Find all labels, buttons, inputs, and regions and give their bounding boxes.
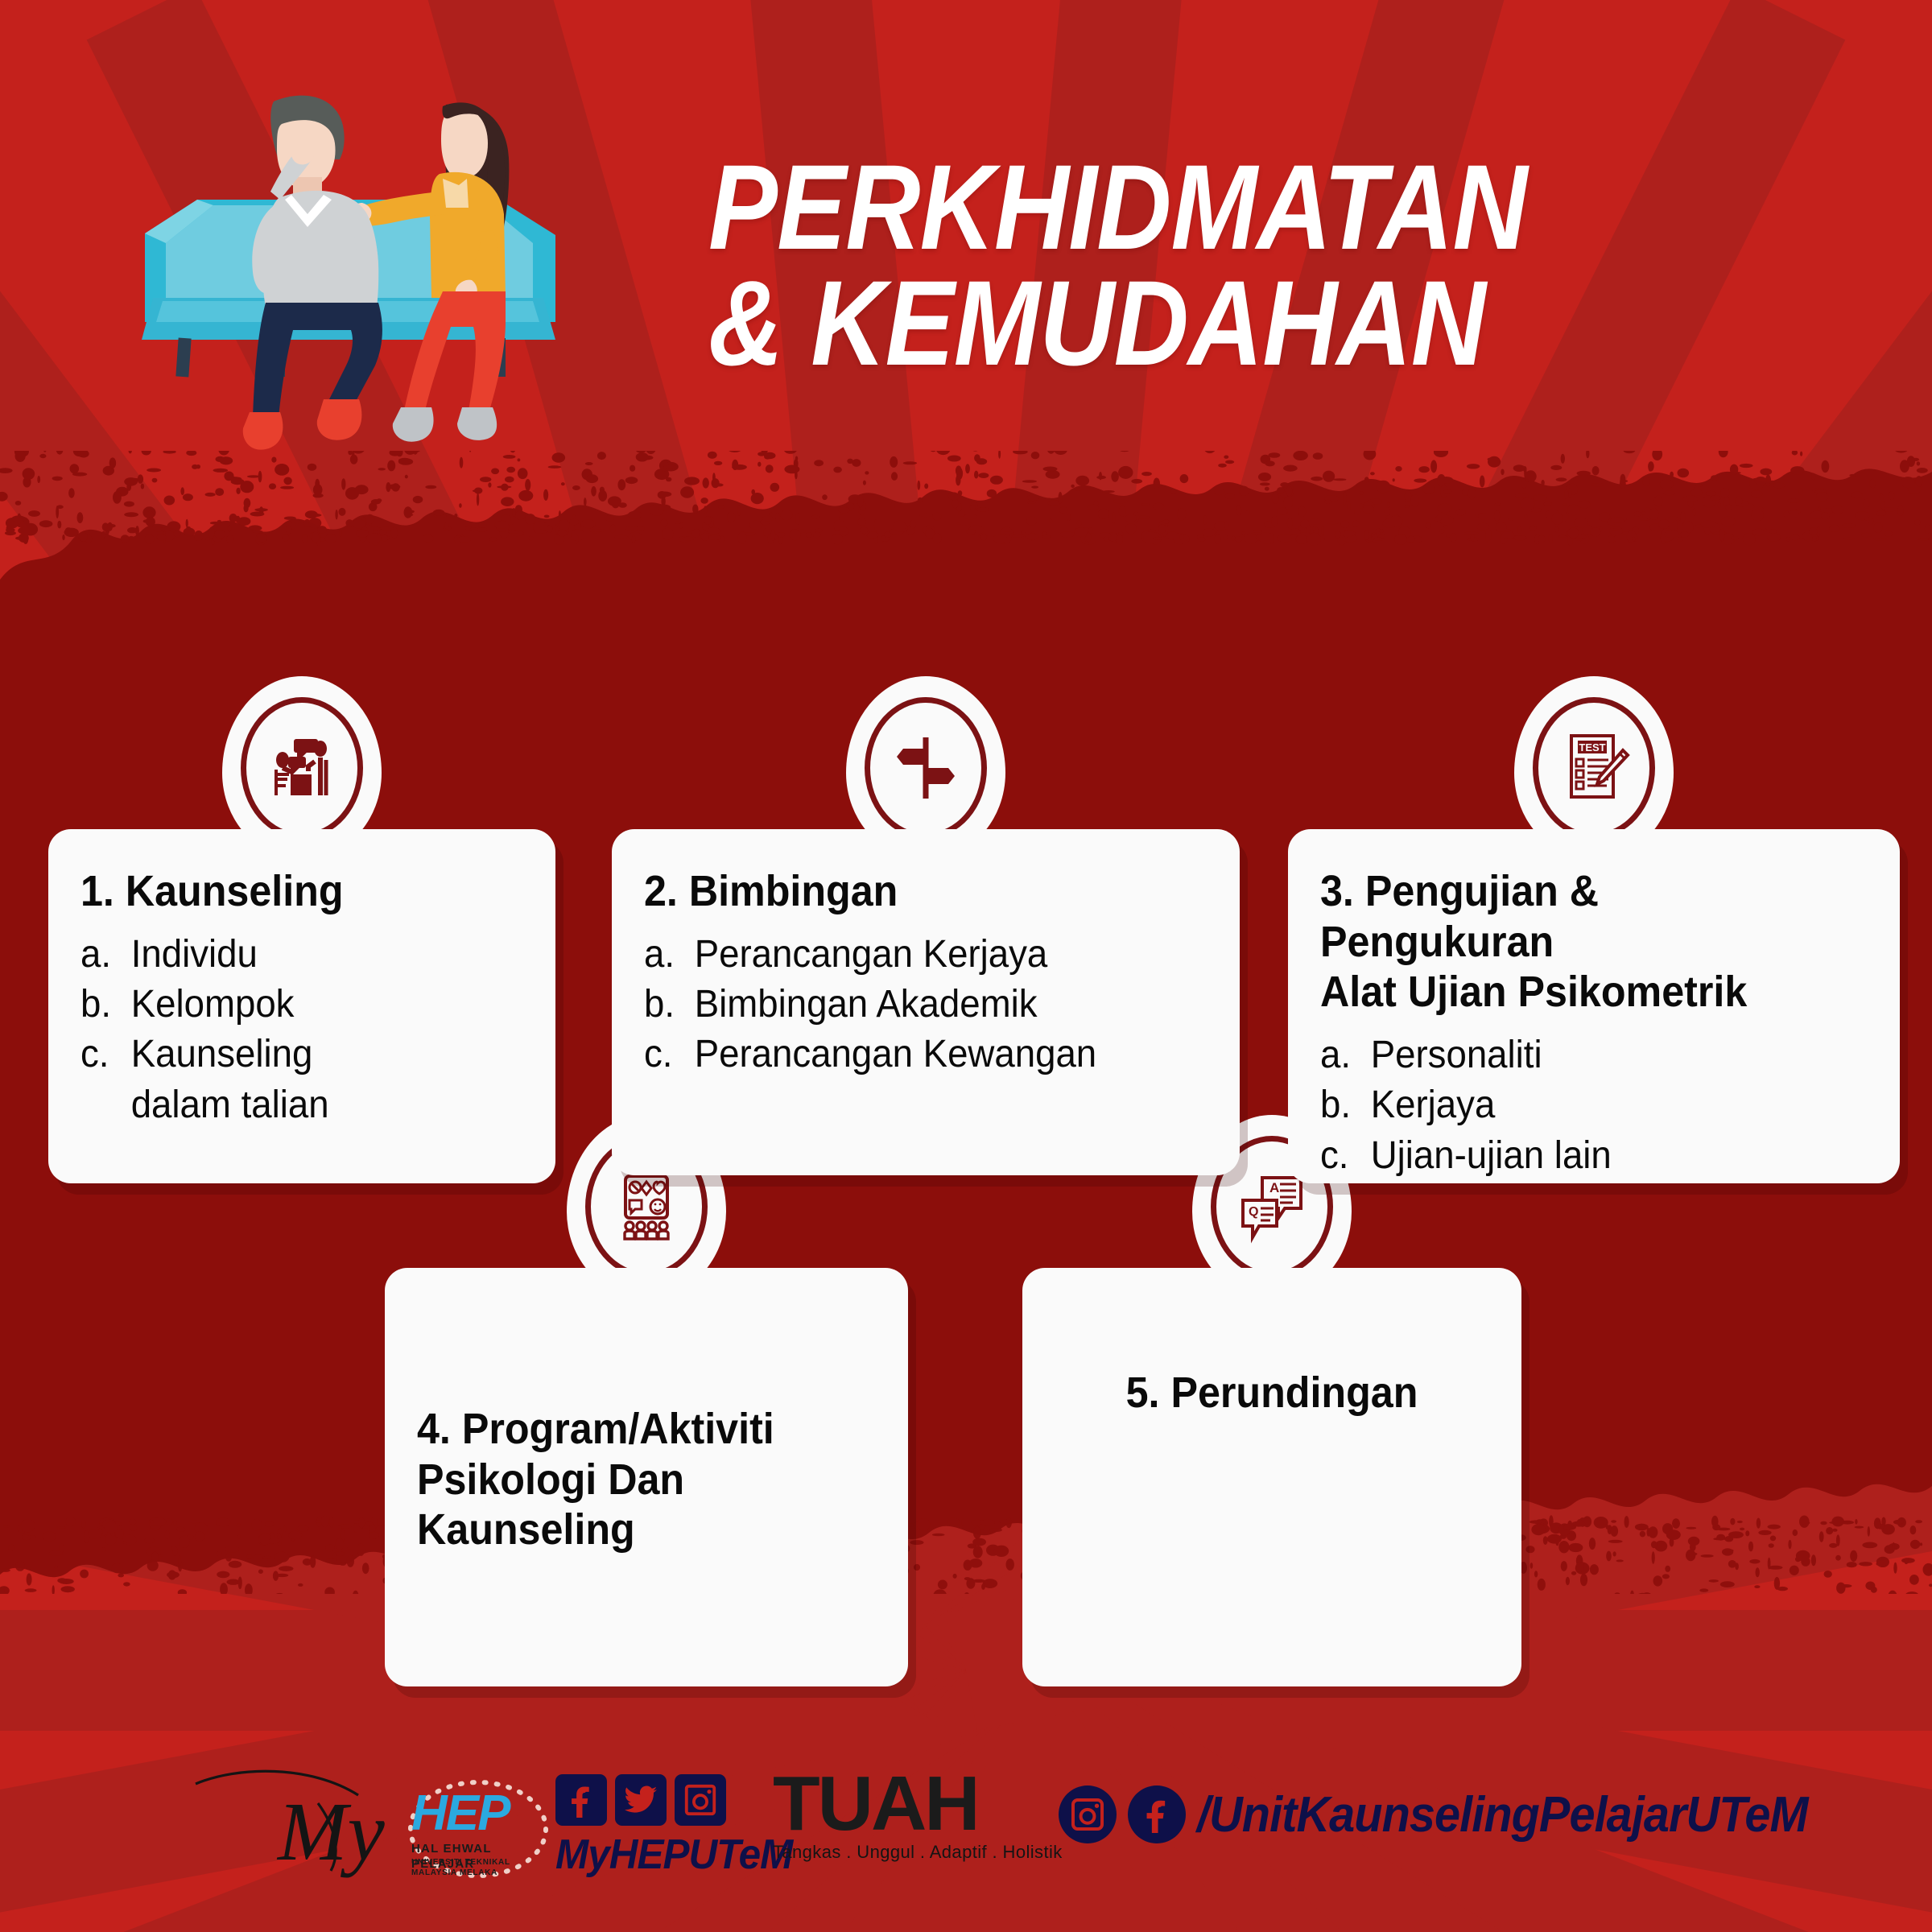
card-2-sublist: a.Perancangan Kerjaya b.Bimbingan Akadem…: [644, 930, 1207, 1080]
tuah-wordmark: TUAH: [773, 1769, 1063, 1839]
list-item: b.Kerjaya: [1320, 1080, 1840, 1130]
list-item: c.Perancangan Kewangan: [644, 1030, 1179, 1080]
list-item: c.Ujian-ujian lain: [1320, 1131, 1840, 1181]
list-item: a.Personaliti: [1320, 1030, 1840, 1080]
card-2-title: 2. Bimbingan: [644, 866, 1168, 917]
card-3-body: 3. Pengujian & Pengukuran Alat Ujian Psi…: [1288, 829, 1900, 1183]
test-clipboard-pencil-icon: TEST: [1533, 697, 1655, 839]
card-1-sublist: a.Individu b.Kelompok c.Kaunseling dalam…: [80, 930, 523, 1131]
counselling-session-icon: [241, 697, 363, 839]
card-4-body: 4. Program/Aktiviti Psikologi Dan Kaunse…: [385, 1268, 908, 1686]
twitter-icon[interactable]: [615, 1774, 667, 1826]
services-card-grid: 1. Kaunseling a.Individu b.Kelompok c.Ka…: [0, 0, 1932, 1932]
card-5-title: 5. Perundingan: [1070, 1368, 1474, 1418]
signpost-direction-icon: [865, 697, 987, 839]
hep-badge: HEP HAL EHWAL PELAJAR UNIVERSITI TEKNIKA…: [408, 1787, 553, 1882]
svg-text:Q: Q: [1249, 1205, 1258, 1219]
list-item: b.Bimbingan Akademik: [644, 980, 1179, 1030]
footer: My HEP HAL EHWAL PELAJAR UNIVERSITI TEKN…: [0, 1739, 1932, 1932]
hep-acronym: HEP: [411, 1789, 509, 1839]
myhep-logo[interactable]: My HEP HAL EHWAL PELAJAR UNIVERSITI TEKN…: [278, 1776, 551, 1897]
instagram-icon[interactable]: [1059, 1785, 1117, 1843]
list-item: a.Perancangan Kerjaya: [644, 930, 1179, 980]
card-3-sublist: a.Personaliti b.Kerjaya c.Ujian-ujian la…: [1320, 1030, 1868, 1181]
card-3-title: 3. Pengujian & Pengukuran Alat Ujian Psi…: [1320, 866, 1829, 1018]
card-4-title: 4. Program/Aktiviti Psikologi Dan Kaunse…: [417, 1404, 844, 1555]
card-1-body: 1. Kaunseling a.Individu b.Kelompok c.Ka…: [48, 829, 555, 1183]
card-2-body: 2. Bimbingan a.Perancangan Kerjaya b.Bim…: [612, 829, 1240, 1175]
instagram-icon[interactable]: [675, 1774, 726, 1826]
card-5-body: 5. Perundingan: [1022, 1268, 1521, 1686]
tuah-tagline: Tangkas . Unggul . Adaptif . Holistik: [773, 1842, 1063, 1863]
facebook-icon[interactable]: [555, 1774, 607, 1826]
list-item: a.Individu: [80, 930, 502, 980]
hep-sub2: UNIVERSITI TEKNIKAL MALAYSIA MELAKA: [411, 1858, 553, 1878]
card-1-title: 1. Kaunseling: [80, 866, 493, 917]
svg-text:A: A: [1269, 1180, 1279, 1195]
myheputem-label: MyHEPUTeM: [555, 1831, 792, 1879]
list-item: c.Kaunseling dalam talian: [80, 1030, 502, 1130]
myheputem-social[interactable]: MyHEPUTeM: [555, 1774, 805, 1879]
social-icon-row: [555, 1774, 805, 1826]
list-item: b.Kelompok: [80, 980, 502, 1030]
facebook-icon[interactable]: [1128, 1785, 1186, 1843]
tuah-logo[interactable]: TUAH Tangkas . Unggul . Adaptif . Holist…: [773, 1769, 1063, 1863]
svg-text:TEST: TEST: [1579, 741, 1605, 753]
social-handle-label: /UnitKaunselingPelajarUTeM: [1197, 1786, 1808, 1843]
social-handle-row[interactable]: /UnitKaunselingPelajarUTeM: [1059, 1785, 1854, 1843]
